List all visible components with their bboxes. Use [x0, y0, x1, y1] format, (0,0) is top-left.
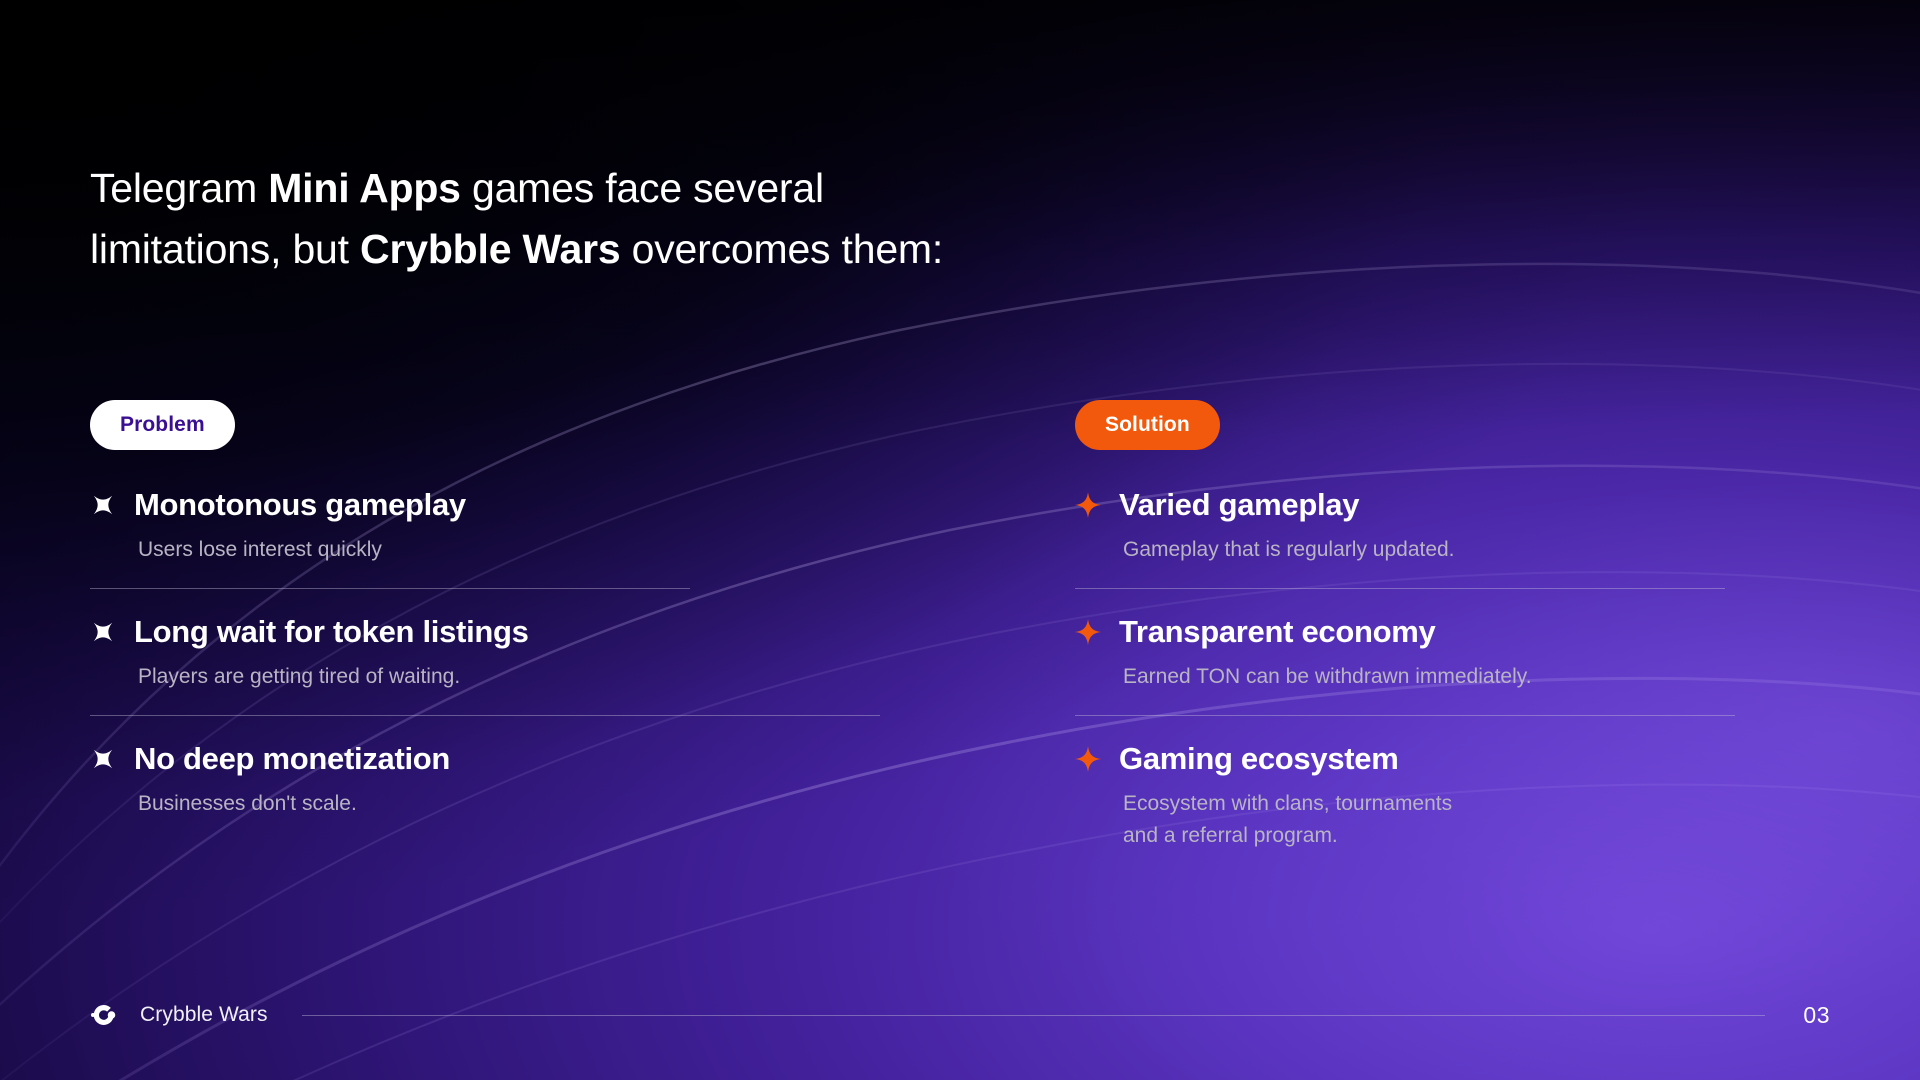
solution-badge: Solution: [1075, 400, 1220, 450]
footer-divider: [302, 1015, 1766, 1016]
sparkle-star-icon: [1075, 492, 1101, 518]
solution-item-divider: [1075, 588, 1725, 589]
solution-item-head: Varied gameplay: [1075, 488, 1835, 522]
problem-column: Problem Monotonous gameplay Users lose i…: [90, 400, 810, 820]
list-item: Transparent economy Earned TON can be wi…: [1075, 615, 1835, 716]
headline-line2-part1: limitations, but: [90, 226, 360, 272]
problem-list: Monotonous gameplay Users lose interest …: [90, 488, 810, 820]
problem-item-title: No deep monetization: [134, 742, 450, 776]
sparkle-star-icon: [1075, 619, 1101, 645]
problem-item-head: Long wait for token listings: [90, 615, 810, 649]
list-item: No deep monetization Businesses don't sc…: [90, 742, 810, 820]
solution-item-title: Varied gameplay: [1119, 488, 1359, 522]
problem-item-subtitle: Businesses don't scale.: [138, 788, 810, 820]
presentation-slide: Telegram Mini Apps games face several li…: [0, 0, 1920, 1080]
problem-badge: Problem: [90, 400, 235, 450]
solution-item-head: Transparent economy: [1075, 615, 1835, 649]
slide-headline: Telegram Mini Apps games face several li…: [90, 158, 1070, 280]
headline-emphasis-crybble-wars: Crybble Wars: [360, 226, 620, 272]
x-star-icon: [85, 487, 122, 524]
solution-item-subtitle: Gameplay that is regularly updated.: [1123, 534, 1835, 566]
headline-emphasis-mini-apps: Mini Apps: [268, 165, 461, 211]
headline-line2-part3: overcomes them:: [620, 226, 943, 272]
solution-item-title: Gaming ecosystem: [1119, 742, 1398, 776]
x-star-icon: [85, 741, 122, 778]
problem-item-divider: [90, 715, 880, 716]
headline-line1-part1: Telegram: [90, 165, 268, 211]
page-number: 03: [1803, 1002, 1830, 1029]
solution-item-title: Transparent economy: [1119, 615, 1435, 649]
problem-item-head: Monotonous gameplay: [90, 488, 810, 522]
headline-line1-part3: games face several: [461, 165, 824, 211]
solution-item-subtitle: Earned TON can be withdrawn immediately.: [1123, 661, 1835, 693]
list-item: Varied gameplay Gameplay that is regular…: [1075, 488, 1835, 589]
list-item: Monotonous gameplay Users lose interest …: [90, 488, 810, 589]
solution-item-divider: [1075, 715, 1735, 716]
solution-list: Varied gameplay Gameplay that is regular…: [1075, 488, 1835, 852]
solution-item-subtitle: Ecosystem with clans, tournaments and a …: [1123, 788, 1835, 852]
problem-item-title: Monotonous gameplay: [134, 488, 466, 522]
problem-item-subtitle: Players are getting tired of waiting.: [138, 661, 810, 693]
problem-item-title: Long wait for token listings: [134, 615, 529, 649]
list-item: Gaming ecosystem Ecosystem with clans, t…: [1075, 742, 1835, 852]
list-item: Long wait for token listings Players are…: [90, 615, 810, 716]
problem-item-head: No deep monetization: [90, 742, 810, 776]
crybble-wars-logo-icon: [90, 1002, 120, 1028]
problem-item-subtitle: Users lose interest quickly: [138, 534, 810, 566]
solution-item-head: Gaming ecosystem: [1075, 742, 1835, 776]
problem-item-divider: [90, 588, 690, 589]
x-star-icon: [85, 614, 122, 651]
slide-footer: Crybble Wars 03: [90, 998, 1830, 1032]
solution-column: Solution Varied gameplay Gameplay that i…: [1075, 400, 1835, 852]
sparkle-star-icon: [1075, 746, 1101, 772]
brand-name: Crybble Wars: [140, 1003, 268, 1027]
